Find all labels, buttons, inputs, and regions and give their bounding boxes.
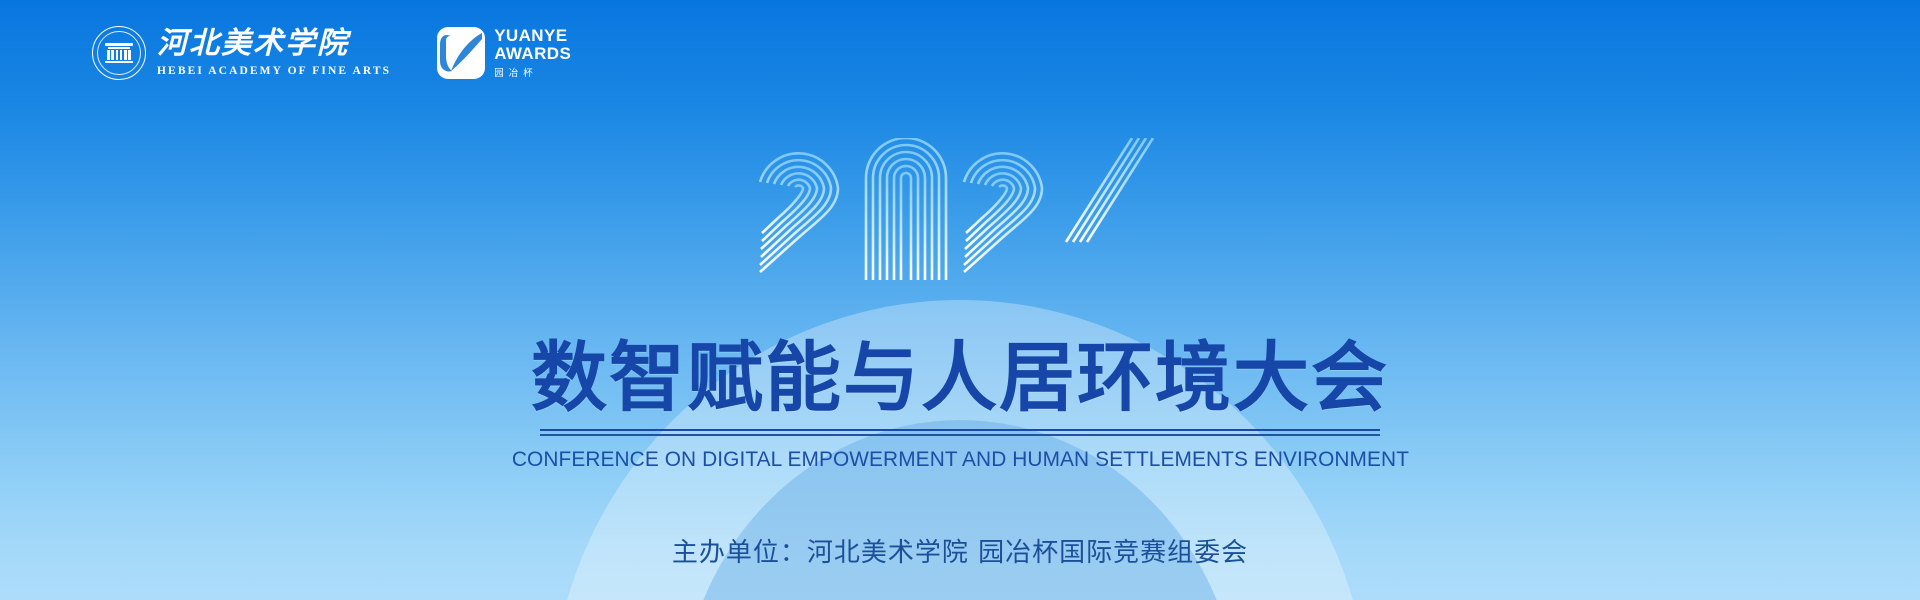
conference-title-cn: 数智赋能与人居环境大会 [531, 340, 1389, 416]
academy-seal-icon [92, 26, 146, 80]
title-divider-rules [540, 429, 1380, 436]
hebei-academy-name-en: HEBEI ACADEMY OF FINE ARTS [157, 66, 391, 78]
yuanye-line2: AWARDS [494, 45, 571, 62]
hebei-academy-logo: 河北美术学院 HEBEI ACADEMY OF FINE ARTS [92, 26, 391, 80]
title-block: 数智赋能与人居环境大会 CONFERENCE ON DIGITAL EMPOWE… [0, 340, 1920, 472]
yuanye-leaf-icon [437, 27, 485, 79]
hebei-academy-name-cn: 河北美术学院 [157, 29, 391, 59]
yuanye-line1: YUANYE [494, 27, 571, 44]
conference-title-en: CONFERENCE ON DIGITAL EMPOWERMENT AND HU… [511, 447, 1408, 472]
year-2024-graphic [0, 138, 1920, 280]
conference-banner: 河北美术学院 HEBEI ACADEMY OF FINE ARTS YUANYE… [0, 0, 1920, 600]
logo-bar: 河北美术学院 HEBEI ACADEMY OF FINE ARTS YUANYE… [92, 26, 571, 80]
yuanye-awards-logo: YUANYE AWARDS 园冶杯 [437, 27, 571, 79]
yuanye-name-cn: 园冶杯 [494, 65, 571, 79]
organizer-line: 主办单位：河北美术学院 园冶杯国际竞赛组委会 [0, 532, 1920, 569]
